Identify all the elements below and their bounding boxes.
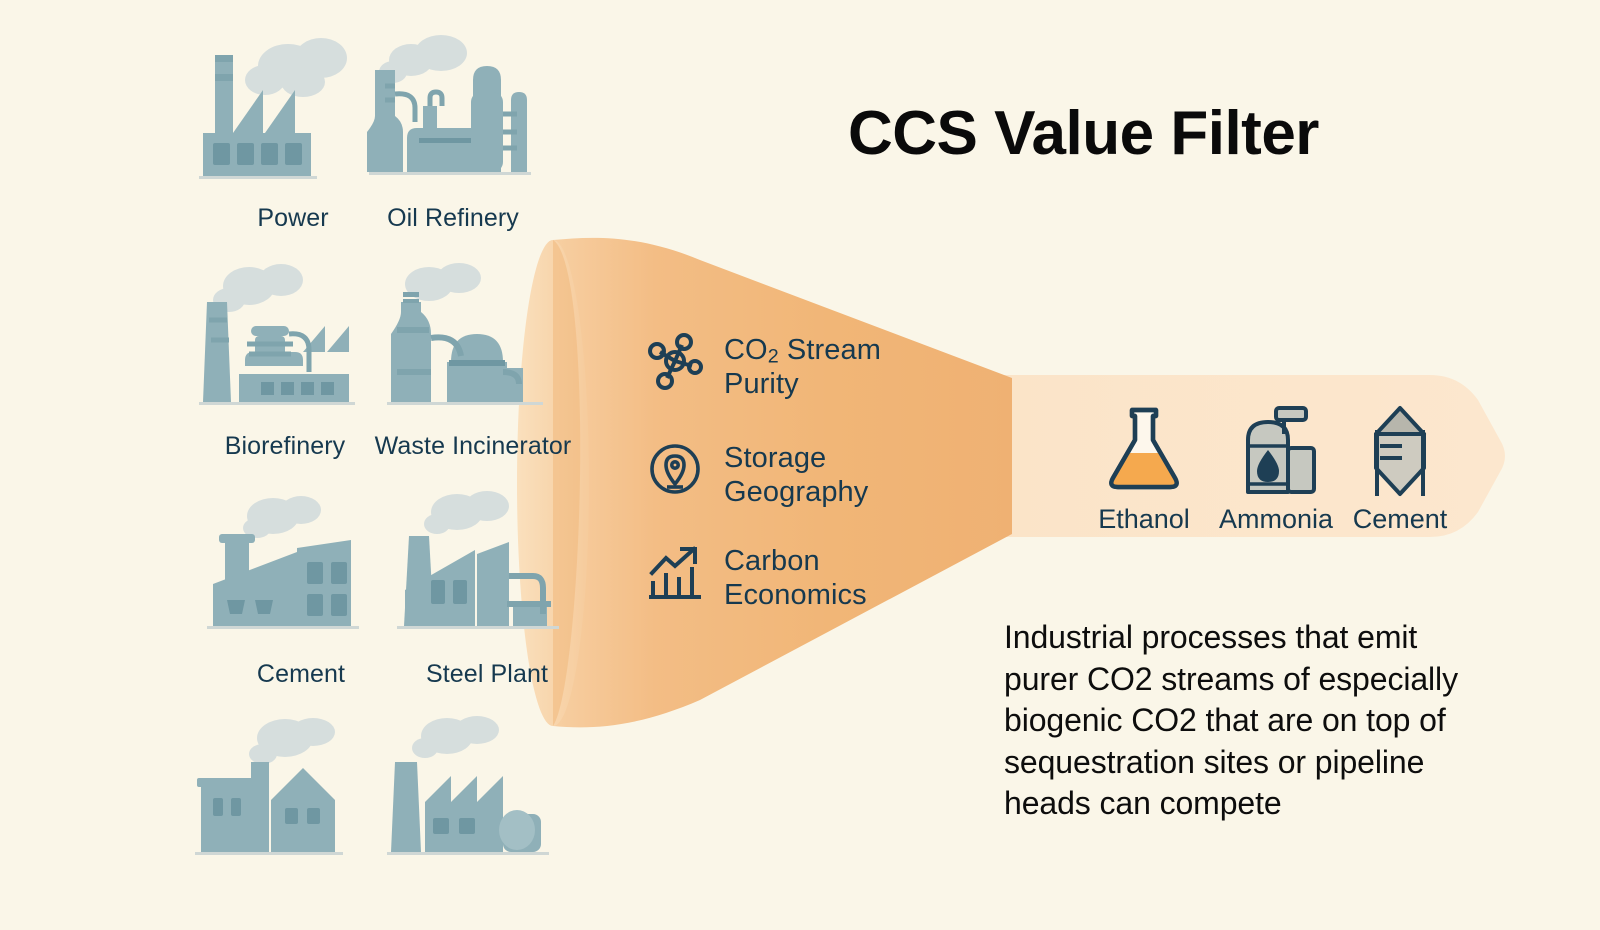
biorefinery-icon [185,256,385,426]
molecule-icon [644,330,706,392]
oil-refinery-icon [353,28,553,198]
flask-icon [1094,400,1194,500]
source-label: Waste Incinerator [373,432,573,461]
infographic-canvas: CCS Value Filter [0,0,1600,889]
source-item-oil-refinery[interactable]: Oil Refinery [353,28,553,248]
criterion-carbon-economics[interactable]: Carbon Economics [644,545,904,612]
output-label: Cement [1310,504,1490,535]
caption-line: Industrial processes that emit [1004,617,1564,659]
caption-line: sequestration sites or pipeline [1004,742,1564,784]
location-pin-circle-icon [644,438,706,500]
source-label: Oil Refinery [353,204,553,233]
source-item-waste-incinerator[interactable]: Waste Incinerator [373,256,573,476]
source-item-factory[interactable] [189,710,389,930]
gas-tank-icon [1226,400,1326,500]
silo-icon [1350,400,1450,500]
caption-text: Industrial processes that emit purer CO2… [1004,617,1564,825]
criterion-storage-geography[interactable]: Storage Geography [644,442,904,509]
caption-line: heads can compete [1004,783,1564,825]
criterion-label: CO2 Stream Purity [724,334,904,402]
criterion-label: Carbon Economics [724,545,904,612]
emission-sources-grid: Power [165,10,585,890]
factory-icon [189,710,389,880]
source-item-factory-2[interactable] [377,710,577,930]
page-title: CCS Value Filter [848,103,1548,165]
source-label: Biorefinery [185,432,385,461]
source-item-biorefinery[interactable]: Biorefinery [185,256,385,476]
criterion-label: Storage Geography [724,442,904,509]
output-item-cement[interactable]: Cement [1320,400,1480,560]
growth-chart-icon [644,541,706,603]
waste-incinerator-icon [373,256,573,426]
steel-plant-icon [387,484,587,654]
caption-line: purer CO2 streams of especially [1004,659,1564,701]
criterion-co2-stream-purity[interactable]: CO2 Stream Purity [644,334,904,402]
source-label: Steel Plant [387,660,587,689]
cement-plant-icon [201,484,401,654]
source-label: Cement [201,660,401,689]
caption-line: biogenic CO2 that are on top of [1004,700,1564,742]
source-item-cement[interactable]: Cement [201,484,401,704]
source-item-steel-plant[interactable]: Steel Plant [387,484,587,704]
factory-icon-2 [377,710,577,880]
